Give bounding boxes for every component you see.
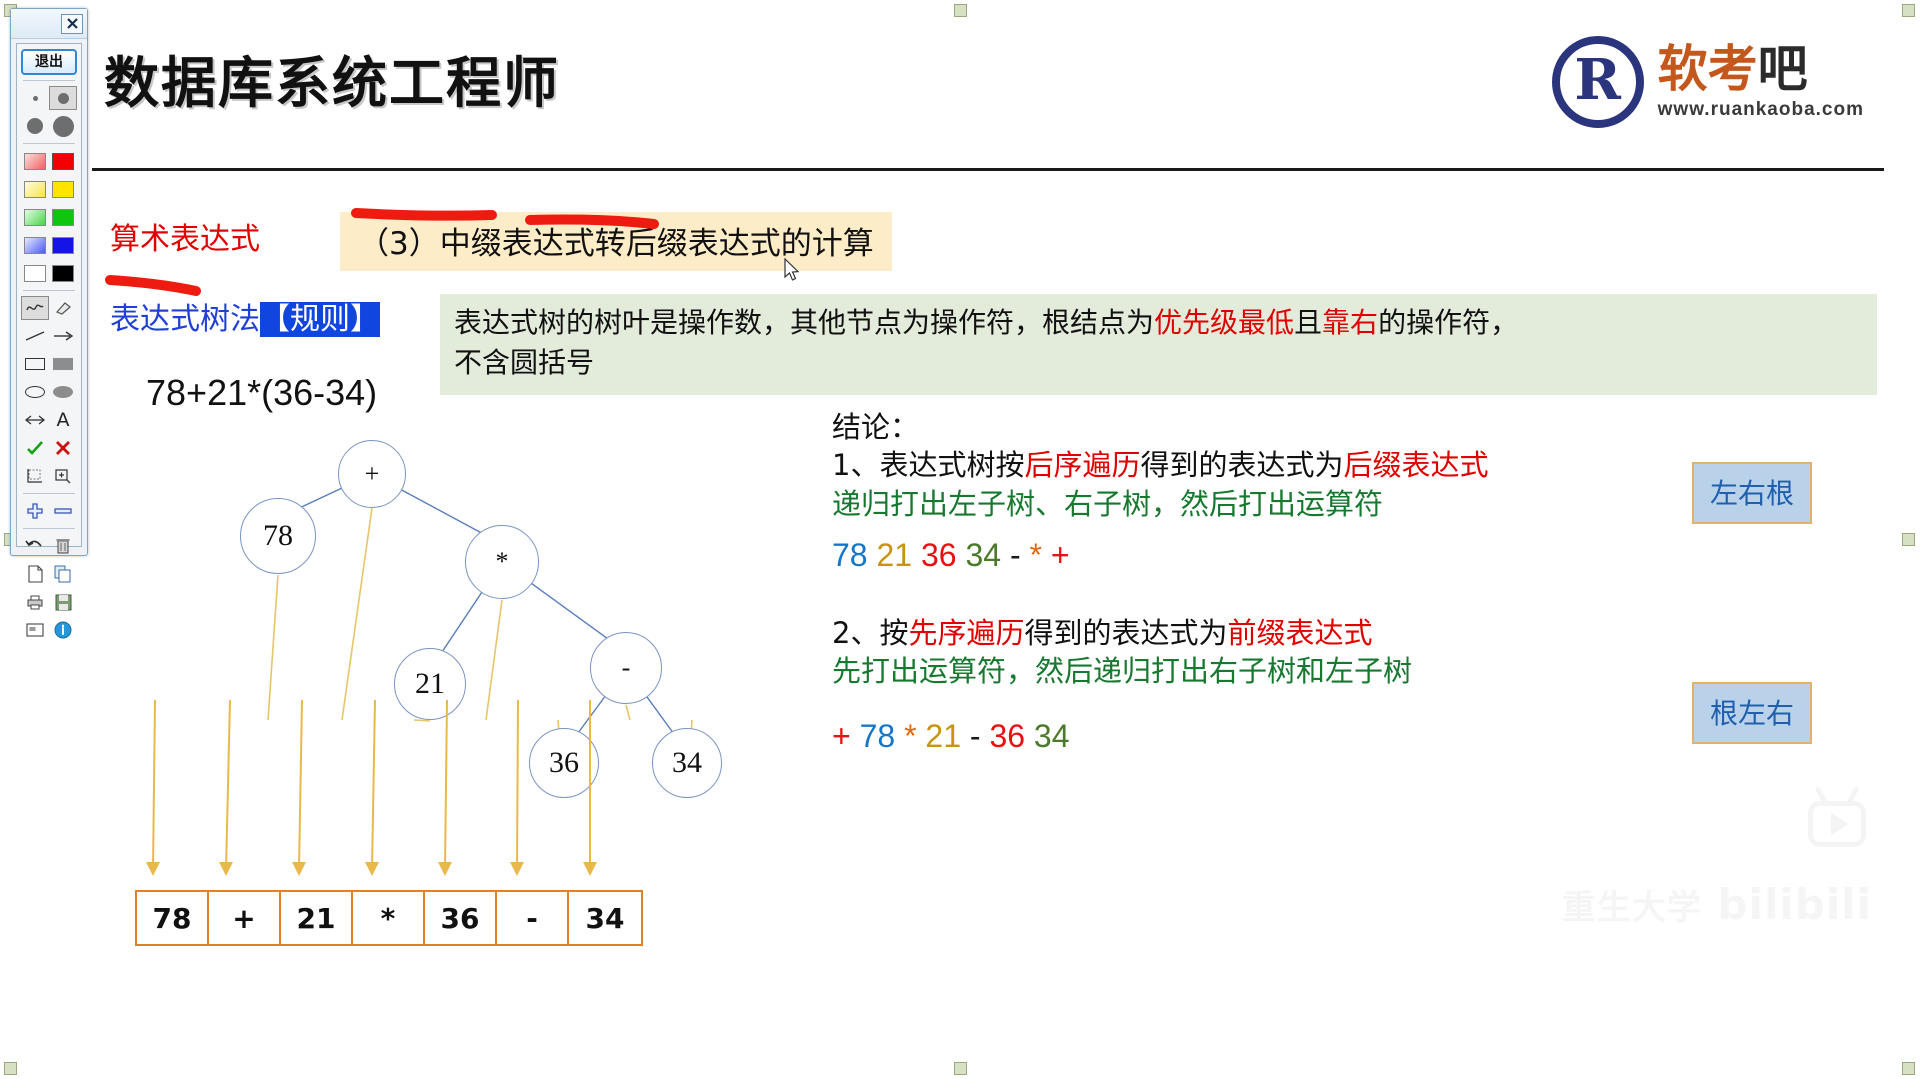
postfix-token: 21: [876, 537, 912, 573]
tree-node: 78: [240, 498, 316, 574]
watermark-channel: 重生大学: [1562, 888, 1702, 928]
tool-row-ellipse: [21, 380, 77, 404]
postfix-token: *: [1029, 537, 1041, 573]
tree-node-label: 21: [415, 667, 445, 701]
toolbar-divider: [23, 290, 75, 291]
rectangle-outline-icon[interactable]: [21, 352, 49, 376]
table-cell: 36: [425, 892, 497, 944]
label-tree-main: 表达式树法: [110, 302, 260, 337]
c1-pre: 1、表达式树按: [832, 448, 1024, 482]
watermark-brand: bilibili: [1717, 880, 1872, 929]
play-triangle-icon: [1831, 813, 1849, 835]
color-swatch-yellow-icon[interactable]: [49, 177, 77, 201]
tool-row-file: [21, 562, 77, 586]
tool-row-undo: [21, 534, 77, 558]
zoom-in-icon[interactable]: [49, 464, 77, 488]
info-icon[interactable]: [49, 618, 77, 642]
eraser-icon[interactable]: [49, 296, 77, 320]
color-row-yellow: [21, 177, 77, 201]
tool-row-crop: [21, 464, 77, 488]
tree-to-table-arrows: [120, 700, 820, 900]
rule-text-line2: 不含圆括号: [454, 346, 594, 379]
rule-highlight-rightmost: 靠右: [1322, 306, 1378, 339]
color-swatch-black-icon[interactable]: [49, 261, 77, 285]
color-swatch-blue-icon[interactable]: [49, 233, 77, 257]
label-tree-rule-tag: 【规则】: [260, 302, 380, 337]
tool-row-zoom: [21, 499, 77, 523]
tool-row-mark: [21, 436, 77, 460]
postfix-token: +: [1051, 537, 1070, 573]
pen-large-dot-icon[interactable]: [21, 114, 49, 138]
rule-highlight-lowest-precedence: 优先级最低: [1154, 306, 1294, 339]
close-icon[interactable]: [61, 14, 83, 34]
postfix-token: 36: [921, 537, 957, 573]
c1-highlight-postfix: 后缀表达式: [1343, 448, 1488, 482]
toolbar-divider: [23, 143, 75, 144]
table-cell: 34: [569, 892, 641, 944]
conclusion-1-line1: 1、表达式树按后序遍历得到的表达式为后缀表达式: [832, 446, 1662, 484]
color-swatch-white-icon[interactable]: [21, 261, 49, 285]
label-expression-tree-method: 表达式树法【规则】: [110, 294, 380, 338]
postfix-result: 78 21 36 34 - * +: [832, 537, 1662, 574]
tree-node: +: [338, 440, 406, 508]
conclusions-heading: 结论：: [832, 408, 1662, 446]
bilibili-tv-icon: [1808, 801, 1866, 847]
prefix-token: -: [970, 718, 981, 754]
prefix-token: 34: [1034, 718, 1070, 754]
table-cell: 78: [137, 892, 209, 944]
arrow-icon[interactable]: [49, 324, 77, 348]
c2-mid: 得到的表达式为: [1024, 616, 1227, 650]
color-row-red: [21, 149, 77, 173]
conclusion-2-line1: 2、按先序遍历得到的表达式为前缀表达式: [832, 614, 1662, 652]
pen-medium-dot-icon[interactable]: [49, 86, 77, 110]
logo-brand-dark: 吧: [1758, 40, 1808, 98]
mouse-cursor: [784, 258, 802, 284]
tool-row-pen: [21, 296, 77, 320]
color-swatch-light-yellow-icon[interactable]: [21, 177, 49, 201]
line-icon[interactable]: [21, 324, 49, 348]
rule-text-part1: 表达式树的树叶是操作数，其他节点为操作符，根结点为: [454, 306, 1154, 339]
rectangle-filled-icon[interactable]: [49, 352, 77, 376]
table-cell: *: [353, 892, 425, 944]
minus-icon[interactable]: [49, 499, 77, 523]
logo-circle-r-icon: R: [1552, 36, 1644, 128]
brand-logo: R 软考吧 www.ruankaoba.com: [1552, 36, 1864, 128]
rule-description-box: 表达式树的树叶是操作数，其他节点为操作符，根结点为优先级最低且靠右的操作符，不含…: [440, 294, 1877, 395]
color-row-mono: [21, 261, 77, 285]
slide-canvas: 退出: [0, 0, 1920, 1079]
slide-handle-top-right[interactable]: [1902, 4, 1915, 17]
header-divider: [92, 168, 1884, 171]
print-icon[interactable]: [21, 590, 49, 614]
prefix-token: 36: [989, 718, 1025, 754]
label-arithmetic-expression: 算术表达式: [110, 214, 260, 258]
logo-brand-name: 软考吧: [1658, 43, 1864, 96]
exit-button[interactable]: 退出: [21, 49, 77, 75]
save-icon[interactable]: [49, 590, 77, 614]
tool-row-rect: [21, 352, 77, 376]
tree-node: -: [590, 632, 662, 704]
tool-row-misc: [21, 618, 77, 642]
conclusion-2-note: 先打出运算符，然后递归打出右子树和左子树: [832, 652, 1662, 690]
prefix-token: 78: [860, 718, 896, 754]
watermark-text: 重生大学 bilibili: [1562, 880, 1872, 929]
slide-handle-bottom-left[interactable]: [4, 1062, 17, 1075]
c2-highlight-prefix: 前缀表达式: [1227, 616, 1372, 650]
logo-text-block: 软考吧 www.ruankaoba.com: [1658, 43, 1864, 121]
spacer: [832, 574, 1662, 594]
page-title: 数据库系统工程师: [104, 38, 560, 118]
screen-icon[interactable]: [21, 618, 49, 642]
tree-node-label: +: [365, 459, 380, 489]
color-swatch-red-icon[interactable]: [49, 149, 77, 173]
tree-node-label: 78: [263, 519, 293, 553]
table-cell: 21: [281, 892, 353, 944]
annotation-toolbar: 退出: [10, 8, 88, 556]
c2-highlight-preorder: 先序遍历: [908, 616, 1024, 650]
crop-icon[interactable]: [21, 464, 49, 488]
trash-icon[interactable]: [49, 534, 77, 558]
c1-highlight-postorder: 后序遍历: [1024, 448, 1140, 482]
prefix-token: *: [904, 718, 916, 754]
cross-icon[interactable]: [49, 436, 77, 460]
new-page-icon[interactable]: [21, 562, 49, 586]
conclusion-1-note: 递归打出左子树、右子树，然后打出运算符: [832, 485, 1662, 523]
tree-node-label: -: [622, 653, 631, 683]
ellipse-filled-icon[interactable]: [49, 380, 77, 404]
spacer: [832, 594, 1662, 614]
badge-preorder-order: 根左右: [1692, 682, 1812, 744]
slide-handle-top-center[interactable]: [954, 4, 967, 17]
c1-mid: 得到的表达式为: [1140, 448, 1343, 482]
prefix-token: +: [832, 718, 851, 754]
rule-text-part2: 且: [1294, 306, 1322, 339]
plus-icon[interactable]: [21, 499, 49, 523]
slide-handle-bottom-right[interactable]: [1902, 1062, 1915, 1075]
pen-size-row-2: [21, 114, 77, 138]
pen-xlarge-dot-icon[interactable]: [49, 114, 77, 138]
ellipse-outline-icon[interactable]: [21, 380, 49, 404]
color-swatch-light-green-icon[interactable]: [21, 205, 49, 229]
toolbar-titlebar: [11, 9, 87, 39]
text-icon[interactable]: A: [49, 408, 77, 432]
toolbar-divider: [23, 80, 75, 81]
badge-postorder-order: 左右根: [1692, 462, 1812, 524]
c2-pre: 2、按: [832, 616, 908, 650]
section-heading: （3）中缀表达式转后缀表达式的计算: [340, 212, 892, 271]
freehand-icon[interactable]: [21, 296, 49, 320]
prefix-token: 21: [925, 718, 961, 754]
rule-text-part3: 的操作符，: [1378, 306, 1518, 339]
check-icon[interactable]: [21, 436, 49, 460]
prefix-result: + 78 * 21 - 36 34: [832, 718, 1662, 755]
double-arrow-icon[interactable]: [21, 408, 49, 432]
slide-handle-bottom-center[interactable]: [954, 1062, 967, 1075]
color-row-green: [21, 205, 77, 229]
tool-row-output: [21, 590, 77, 614]
postfix-token: 78: [832, 537, 868, 573]
toolbar-body: 退出: [16, 43, 82, 547]
postfix-token: 34: [965, 537, 1001, 573]
tree-node: *: [465, 525, 539, 599]
postfix-sequence-table: 78 + 21 * 36 - 34: [135, 890, 643, 946]
pen-size-row-1: [21, 86, 77, 110]
tool-row-text: A: [21, 408, 77, 432]
color-swatch-light-blue-icon[interactable]: [21, 233, 49, 257]
slide-handle-middle-right[interactable]: [1902, 533, 1915, 546]
logo-letter: R: [1574, 52, 1621, 108]
copy-icon[interactable]: [49, 562, 77, 586]
table-cell: +: [209, 892, 281, 944]
tool-row-line: [21, 324, 77, 348]
tree-node-label: *: [496, 547, 509, 577]
undo-icon[interactable]: [21, 534, 49, 558]
color-swatch-light-red-icon[interactable]: [21, 149, 49, 173]
postfix-token: -: [1010, 537, 1021, 573]
infix-expression: 78+21*(36-34): [146, 372, 377, 414]
color-swatch-green-icon[interactable]: [49, 205, 77, 229]
toolbar-divider: [23, 493, 75, 494]
table-cell: -: [497, 892, 569, 944]
color-row-blue: [21, 233, 77, 257]
logo-url: www.ruankaoba.com: [1658, 99, 1864, 121]
pen-small-dot-icon[interactable]: [21, 86, 49, 110]
conclusions-block: 结论： 1、表达式树按后序遍历得到的表达式为后缀表达式 递归打出左子树、右子树，…: [832, 408, 1662, 755]
logo-brand-orange: 软考: [1658, 40, 1758, 98]
toolbar-divider: [23, 528, 75, 529]
